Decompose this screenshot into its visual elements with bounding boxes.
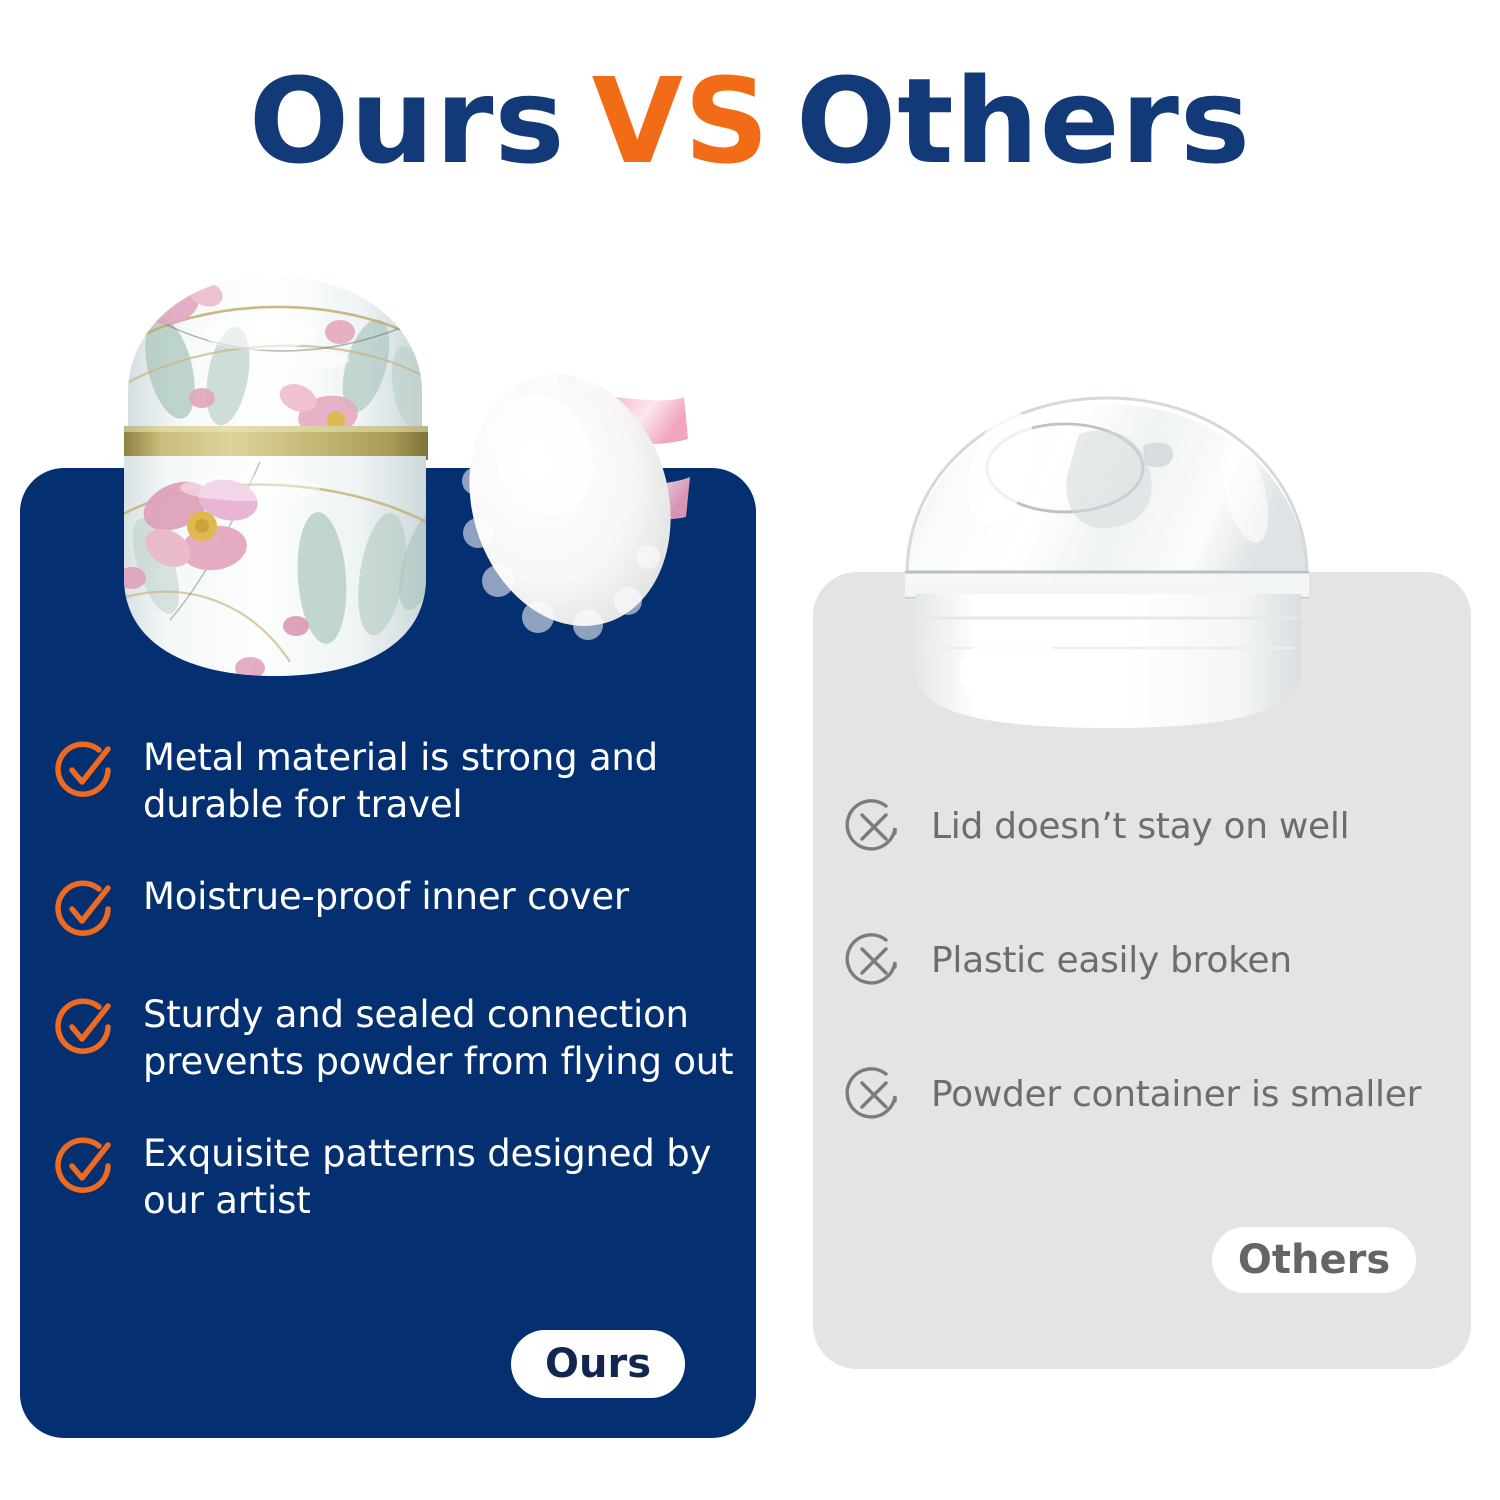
ours-badge: Ours: [511, 1330, 685, 1398]
list-item: Plastic easily broken: [845, 929, 1485, 993]
list-item: Lid doesn’t stay on well: [845, 795, 1485, 859]
x-circle-icon: [845, 932, 903, 990]
others-badge: Others: [1212, 1227, 1416, 1293]
title-ours-word: Ours: [249, 62, 566, 180]
list-item: Moistrue-proof inner cover: [55, 874, 755, 946]
check-circle-icon: [55, 739, 117, 801]
title-others-word: Others: [796, 62, 1251, 180]
x-circle-icon: [845, 1066, 903, 1124]
list-item: Exquisite patterns designed by our artis…: [55, 1131, 755, 1224]
list-item-label: Metal material is strong and durable for…: [143, 735, 755, 828]
list-item-label: Lid doesn’t stay on well: [931, 805, 1349, 848]
ours-feature-list: Metal material is strong and durable for…: [55, 735, 755, 1271]
list-item: Sturdy and sealed connection prevents po…: [55, 992, 755, 1085]
title-vs-word: VS: [592, 62, 770, 180]
ours-product-image: [110, 248, 530, 698]
list-item: Powder container is smaller: [845, 1063, 1485, 1127]
list-item-label: Sturdy and sealed connection prevents po…: [143, 992, 755, 1085]
check-circle-icon: [55, 878, 117, 940]
check-circle-icon: [55, 1135, 117, 1197]
x-circle-icon: [845, 798, 903, 856]
others-product-image: [893, 372, 1323, 737]
list-item-label: Moistrue-proof inner cover: [143, 874, 629, 921]
check-circle-icon: [55, 996, 117, 1058]
list-item: Metal material is strong and durable for…: [55, 735, 755, 828]
list-item-label: Powder container is smaller: [931, 1073, 1421, 1116]
list-item-label: Plastic easily broken: [931, 939, 1292, 982]
others-drawback-list: Lid doesn’t stay on well Plastic easily …: [845, 795, 1485, 1197]
list-item-label: Exquisite patterns designed by our artis…: [143, 1131, 755, 1224]
page-title: OursVSOthers: [0, 62, 1500, 180]
